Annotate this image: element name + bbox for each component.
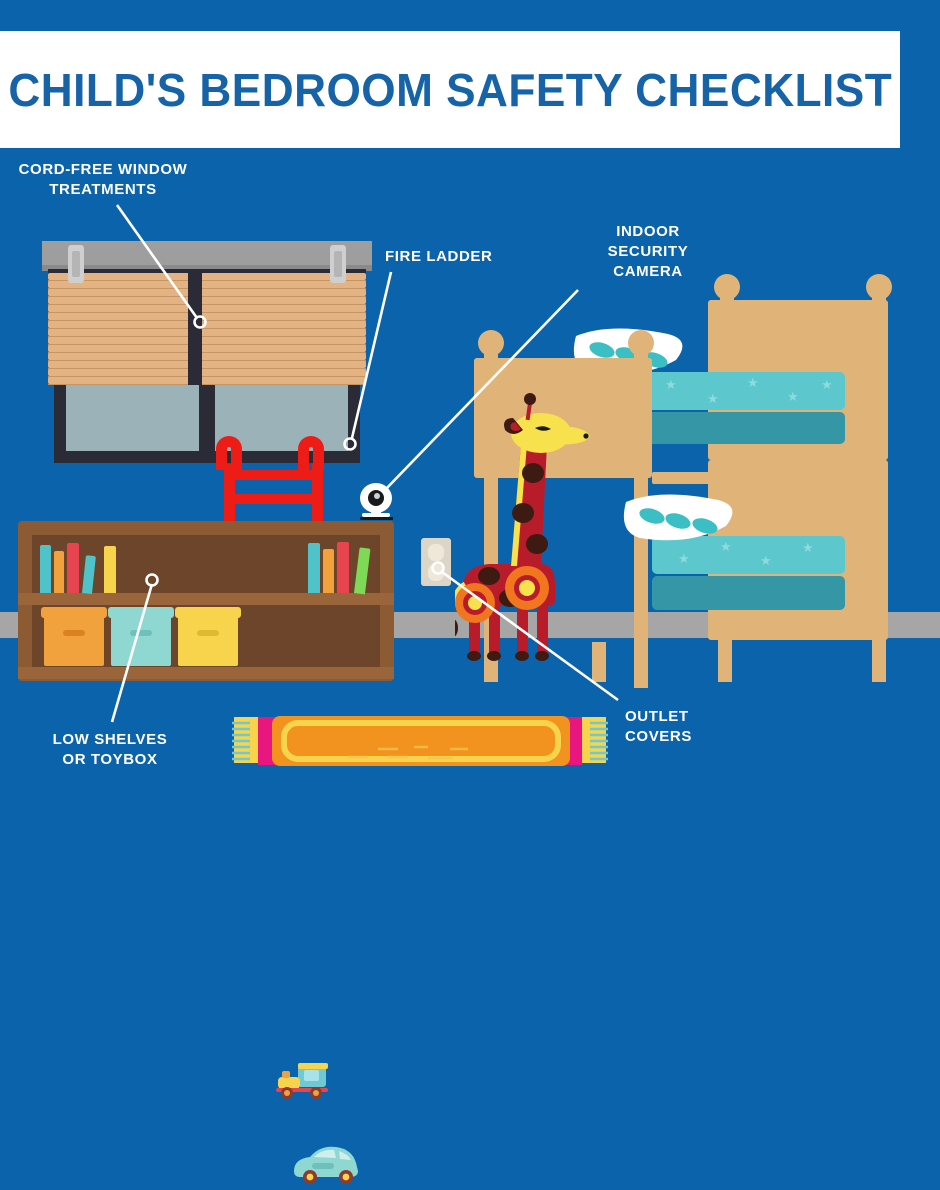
callout-leader-lines <box>0 0 940 788</box>
leader-line-fire-ladder <box>352 272 391 438</box>
infographic-canvas: ★ ★ ★ ★ ★ ★ ★ ★ <box>0 0 940 788</box>
callout-indoor-security-camera: INDOOR SECURITY CAMERA <box>588 222 708 281</box>
leader-dot-shelves <box>147 575 158 586</box>
leader-dot-outlet <box>433 563 444 574</box>
leader-dot-fire-ladder <box>345 439 356 450</box>
leader-dot-cord-free <box>195 317 206 328</box>
toy-train-svg <box>276 1063 354 1101</box>
leader-line-cord-free <box>117 205 197 318</box>
callout-cord-free-window-treatments: CORD-FREE WINDOW TREATMENTS <box>8 160 198 200</box>
leader-line-shelves <box>112 584 152 722</box>
leader-line-camera <box>385 290 578 490</box>
leader-line-outlet <box>442 572 618 700</box>
callout-fire-ladder: FIRE LADDER <box>385 247 505 267</box>
callout-outlet-covers: OUTLET COVERS <box>625 707 765 747</box>
toy-train <box>276 1063 354 1101</box>
callout-low-shelves-or-toybox: LOW SHELVES OR TOYBOX <box>30 730 190 770</box>
toy-car <box>290 1141 364 1185</box>
toy-car-svg <box>290 1141 364 1185</box>
